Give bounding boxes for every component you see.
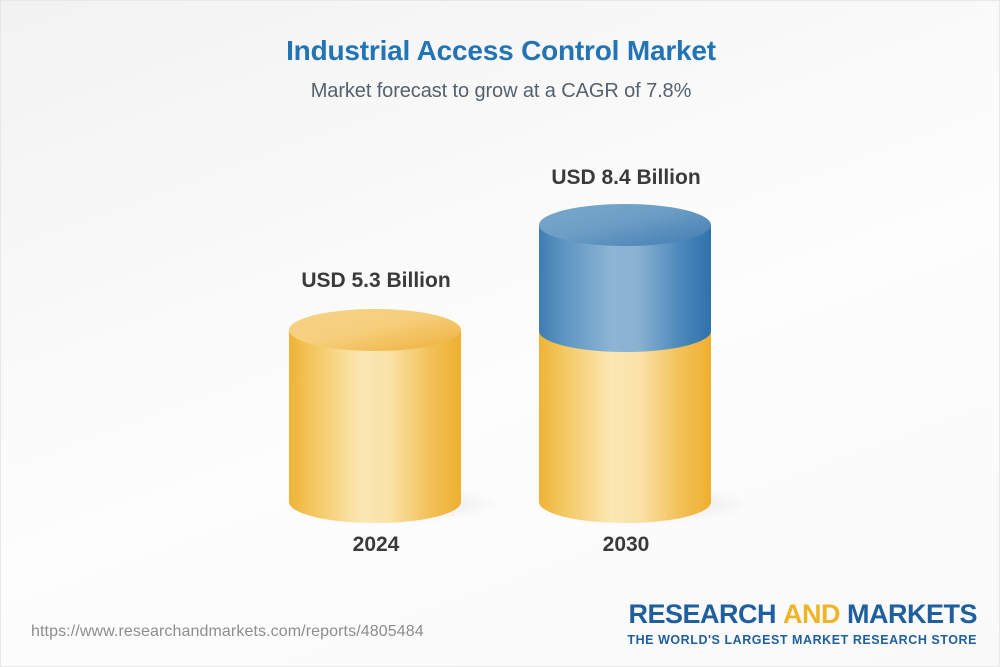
research-and-markets-logo[interactable]: RESEARCHANDMARKETS THE WORLD'S LARGEST M… — [627, 601, 977, 647]
logo-word-markets: MARKETS — [847, 599, 977, 629]
report-url[interactable]: https://www.researchandmarkets.com/repor… — [31, 623, 424, 641]
value-label-2030: USD 8.4 Billion — [496, 166, 756, 190]
logo-word-research: RESEARCH — [628, 599, 776, 629]
plot-area: USD 5.3 Billion — [1, 1, 1000, 667]
cylinder-2024 — [287, 306, 487, 526]
category-label-2024: 2024 — [246, 533, 506, 557]
cylinder-top — [539, 204, 711, 246]
logo-wordmark: RESEARCHANDMARKETS — [627, 601, 977, 628]
cylinder-top — [289, 309, 461, 351]
value-label-2024: USD 5.3 Billion — [246, 269, 506, 293]
category-label-2030: 2030 — [496, 533, 756, 557]
cylinder-2030 — [537, 201, 737, 526]
logo-tagline: THE WORLD'S LARGEST MARKET RESEARCH STOR… — [627, 633, 977, 647]
cylinder-segment-base — [539, 331, 711, 523]
cylinder-body — [289, 330, 461, 523]
chart-canvas: Industrial Access Control Market Market … — [0, 0, 1000, 667]
logo-word-and: AND — [783, 599, 840, 629]
